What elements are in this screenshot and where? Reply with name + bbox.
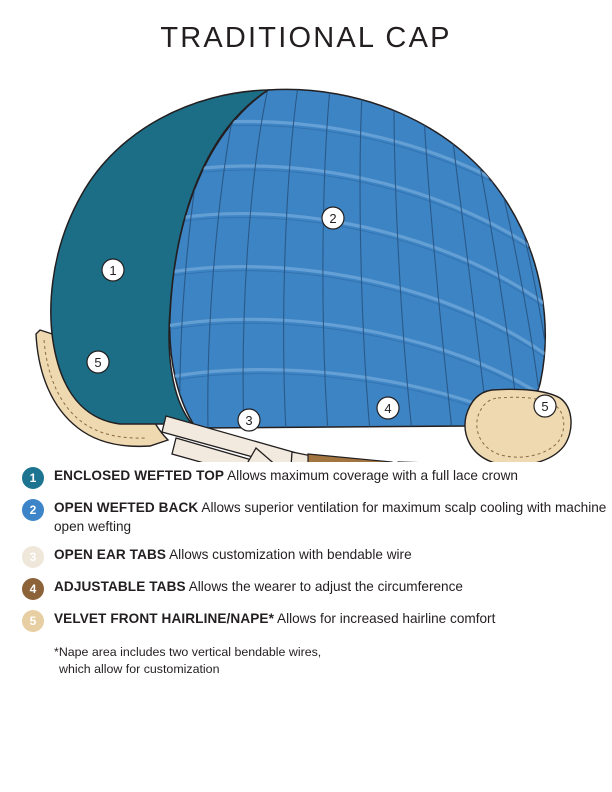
legend-badge-1: 1 [22, 467, 44, 489]
legend-text-2: OPEN WEFTED BACK Allows superior ventila… [54, 498, 610, 536]
legend-badge-5: 5 [22, 610, 44, 632]
legend-text-1: ENCLOSED WEFTED TOP Allows maximum cover… [54, 466, 518, 485]
legend-term-4: ADJUSTABLE TABS [54, 579, 186, 594]
callout-5-velvet-front-hairline-left[interactable]: 5 [87, 351, 109, 373]
legend-desc-4: Allows the wearer to adjust the circumfe… [189, 579, 463, 594]
legend-term-2: OPEN WEFTED BACK [54, 500, 198, 515]
footnote: *Nape area includes two vertical bendabl… [0, 644, 612, 678]
legend-item-1: 1 ENCLOSED WEFTED TOP Allows maximum cov… [0, 466, 612, 489]
legend-text-4: ADJUSTABLE TABS Allows the wearer to adj… [54, 577, 463, 596]
callout-5-velvet-front-hairline-right[interactable]: 5 [534, 395, 556, 417]
legend-item-3: 3 OPEN EAR TABS Allows customization wit… [0, 545, 612, 568]
legend-badge-4: 4 [22, 578, 44, 600]
cap-diagram-page: TRADITIONAL CAP [0, 0, 612, 792]
callout-5-left-label: 5 [94, 355, 101, 370]
footnote-line-2: which allow for customization [54, 661, 612, 678]
page-title: TRADITIONAL CAP [0, 22, 612, 55]
callout-1-enclosed-wefted-top[interactable]: 1 [102, 259, 124, 281]
legend-item-5: 5 VELVET FRONT HAIRLINE/NAPE* Allows for… [0, 609, 612, 632]
legend-text-3: OPEN EAR TABS Allows customization with … [54, 545, 412, 564]
footnote-line-1: *Nape area includes two vertical bendabl… [54, 645, 321, 659]
callout-3-open-ear-tabs[interactable]: 3 [238, 409, 260, 431]
callout-2-open-wefted-back[interactable]: 2 [322, 207, 344, 229]
legend-badge-3: 3 [22, 546, 44, 568]
callout-2-label: 2 [329, 211, 336, 226]
legend-desc-3: Allows customization with bendable wire [169, 547, 412, 562]
callout-4-label: 4 [384, 401, 391, 416]
legend-desc-5: Allows for increased hairline comfort [277, 611, 495, 626]
cap-illustration: 1 2 3 4 5 5 [0, 72, 612, 462]
legend-desc-1: Allows maximum coverage with a full lace… [227, 468, 518, 483]
legend-term-3: OPEN EAR TABS [54, 547, 166, 562]
callout-5-right-label: 5 [541, 399, 548, 414]
legend-badge-2: 2 [22, 499, 44, 521]
legend-list: 1 ENCLOSED WEFTED TOP Allows maximum cov… [0, 466, 612, 678]
legend-item-4: 4 ADJUSTABLE TABS Allows the wearer to a… [0, 577, 612, 600]
callout-4-adjustable-tabs[interactable]: 4 [377, 397, 399, 419]
callout-3-label: 3 [245, 413, 252, 428]
legend-term-1: ENCLOSED WEFTED TOP [54, 468, 224, 483]
legend-term-5: VELVET FRONT HAIRLINE/NAPE* [54, 611, 274, 626]
legend-text-5: VELVET FRONT HAIRLINE/NAPE* Allows for i… [54, 609, 495, 628]
callout-1-label: 1 [109, 263, 116, 278]
legend-item-2: 2 OPEN WEFTED BACK Allows superior venti… [0, 498, 612, 536]
velvet-front-hairline-right [465, 389, 571, 462]
